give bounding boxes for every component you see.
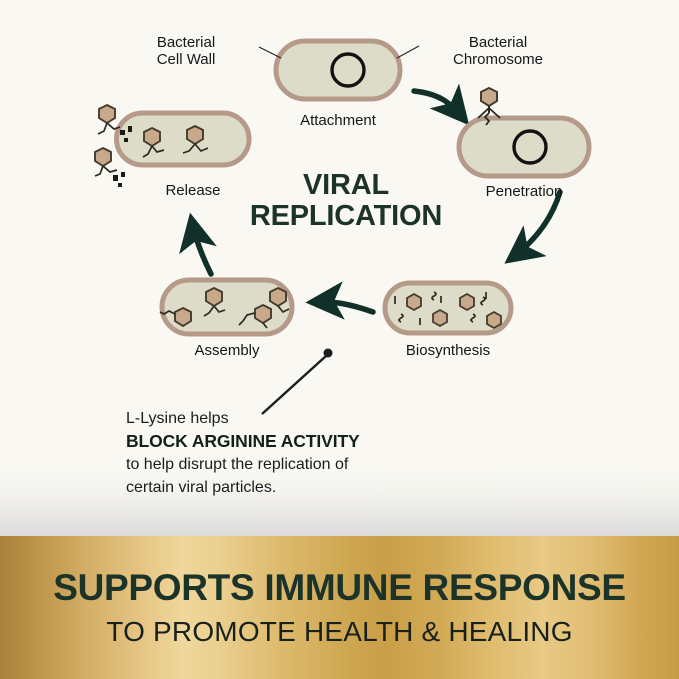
cell-release: [95, 105, 249, 187]
label-biosynthesis: Biosynthesis: [388, 342, 508, 359]
cell-penetration: [459, 88, 589, 176]
leader-line-cell-wall: [259, 47, 281, 58]
arrow-attachment-to-penetration: [414, 91, 463, 118]
arrow-penetration-to-biosynthesis: [512, 192, 560, 258]
label-bacterial-cell-wall-line1: Bacterial: [118, 34, 254, 51]
diagram-title-line1: VIRAL: [236, 170, 456, 201]
label-bacterial-cell-wall-line2: Cell Wall: [118, 51, 254, 68]
label-penetration: Penetration: [464, 183, 584, 200]
callout-text: L-Lysine helps BLOCK ARGININE ACTIVITY t…: [126, 407, 526, 499]
label-attachment: Attachment: [278, 112, 398, 129]
callout-line1: L-Lysine helps: [126, 407, 526, 430]
banner-subhead: TO PROMOTE HEALTH & HEALING: [0, 618, 679, 646]
leader-line-chromosome: [397, 46, 419, 58]
diagram-title: VIRAL REPLICATION: [236, 170, 456, 232]
arrow-biosynthesis-to-assembly: [315, 302, 373, 312]
callout-line3: to help disrupt the replication of: [126, 453, 526, 476]
diagram-title-line2: REPLICATION: [236, 201, 456, 232]
callout-line4: certain viral particles.: [126, 476, 526, 499]
label-bacterial-chromosome-line1: Bacterial: [418, 34, 578, 51]
label-bacterial-cell-wall: Bacterial Cell Wall: [118, 34, 254, 68]
banner-headline: SUPPORTS IMMUNE RESPONSE: [0, 569, 679, 606]
cell-attachment: [276, 41, 400, 99]
label-assembly: Assembly: [167, 342, 287, 359]
cell-biosynthesis: [385, 283, 511, 333]
label-release: Release: [133, 182, 253, 199]
label-bacterial-chromosome: Bacterial Chromosome: [418, 34, 578, 68]
infographic-page: Bacterial Cell Wall Bacterial Chromosome…: [0, 0, 679, 679]
cell-assembly: [160, 280, 292, 334]
callout-line2: BLOCK ARGININE ACTIVITY: [126, 430, 526, 453]
arrow-assembly-to-release: [192, 222, 211, 274]
label-bacterial-chromosome-line2: Chromosome: [418, 51, 578, 68]
